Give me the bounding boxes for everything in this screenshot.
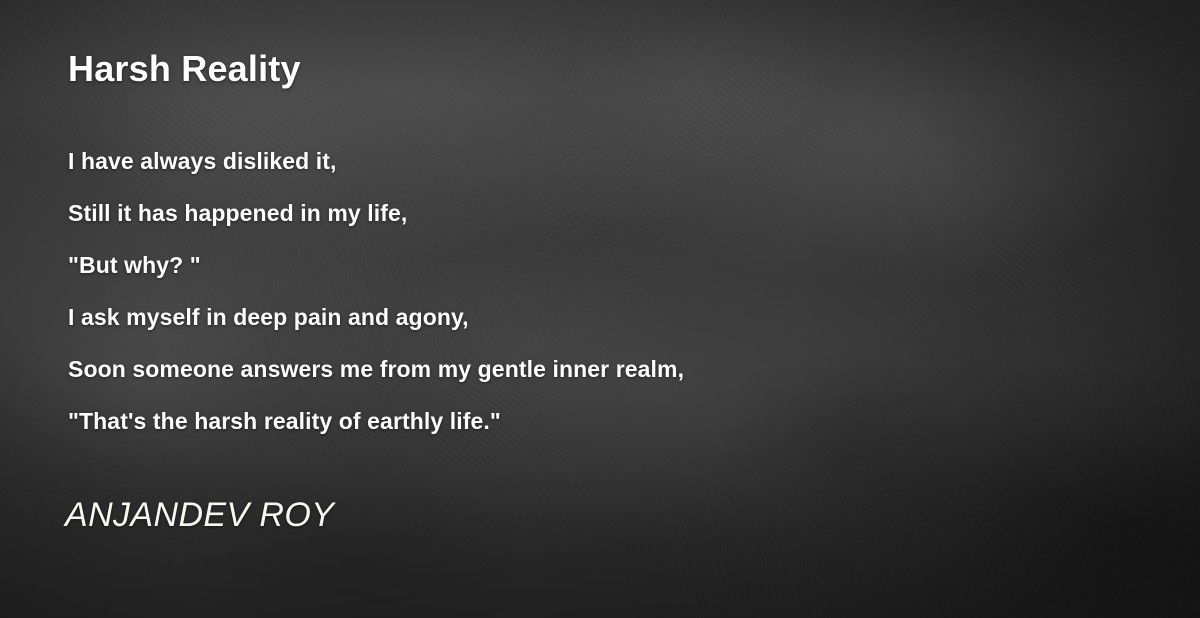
poem-author: ANJANDEV ROY [65, 447, 1132, 535]
poem-line: "But why? " [68, 239, 1132, 291]
poem-body: I have always disliked it, Still it has … [68, 91, 1132, 447]
poem-line: Soon someone answers me from my gentle i… [68, 343, 1132, 395]
poem-content: Harsh Reality I have always disliked it,… [0, 0, 1200, 535]
poem-line: I ask myself in deep pain and agony, [68, 291, 1132, 343]
poem-line: I have always disliked it, [68, 135, 1132, 187]
poem-line: "That's the harsh reality of earthly lif… [68, 395, 1132, 447]
poem-title: Harsh Reality [68, 0, 1132, 91]
poem-line: Still it has happened in my life, [68, 187, 1132, 239]
poem-card: Harsh Reality I have always disliked it,… [0, 0, 1200, 618]
